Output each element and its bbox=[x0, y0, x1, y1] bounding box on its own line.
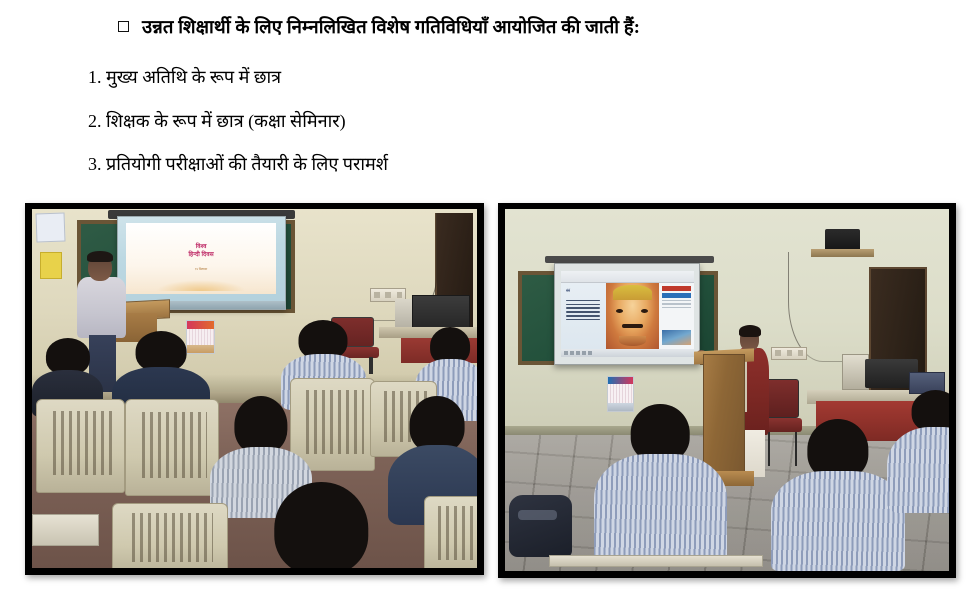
seated-student bbox=[594, 404, 727, 563]
socket-slot bbox=[374, 292, 379, 298]
statusbar-item bbox=[588, 351, 592, 355]
sidebar-text-line bbox=[662, 303, 691, 304]
sidebar-text-line bbox=[662, 300, 691, 301]
browser-window: “ bbox=[561, 271, 694, 356]
heading-row: उन्नत शिक्षार्थी के लिए निम्नलिखित विशेष… bbox=[118, 17, 640, 40]
quote-line bbox=[566, 311, 601, 313]
projector-screen-mount bbox=[545, 256, 714, 263]
wall-notice-paper bbox=[36, 212, 66, 242]
chair-leg bbox=[369, 357, 373, 374]
presenter-hair bbox=[739, 325, 761, 337]
crt-monitor bbox=[412, 295, 470, 329]
socket-slot bbox=[385, 292, 390, 298]
presenter-body bbox=[77, 277, 126, 338]
wall-speaker bbox=[825, 229, 861, 251]
plastic-chair bbox=[125, 399, 218, 496]
portrait-moustache bbox=[622, 324, 643, 329]
quote-line bbox=[566, 315, 601, 317]
statusbar-item bbox=[564, 351, 568, 355]
list-item: 2. शिक्षक के रूप में छात्र (कक्षा सेमिना… bbox=[88, 110, 346, 133]
slide-title-line2: हिन्दी दिवस bbox=[189, 252, 214, 258]
statusbar-item bbox=[582, 351, 586, 355]
portrait-eye bbox=[616, 309, 623, 313]
quote-text-lines bbox=[566, 300, 601, 321]
statusbar-item bbox=[576, 351, 580, 355]
slide-subtitle: १४ सितम्बर bbox=[126, 267, 276, 271]
student-head bbox=[235, 396, 288, 455]
quote-line bbox=[566, 304, 601, 306]
plastic-chair bbox=[112, 503, 228, 568]
plastic-chair bbox=[424, 496, 477, 568]
calendar-header bbox=[187, 321, 214, 329]
seated-student bbox=[771, 419, 904, 571]
student-torso bbox=[887, 427, 949, 513]
author-portrait-illustration bbox=[606, 283, 659, 350]
portrait-cap bbox=[613, 285, 651, 300]
socket-slot bbox=[775, 350, 780, 356]
quote-line bbox=[566, 307, 601, 309]
sidebar-banner bbox=[662, 286, 691, 291]
calendar-header bbox=[608, 377, 633, 385]
portrait-eye bbox=[641, 309, 648, 313]
projector-screen: “ bbox=[554, 263, 701, 364]
chair-leg bbox=[768, 432, 770, 466]
quote-line bbox=[566, 300, 601, 302]
presenter-hair bbox=[87, 251, 113, 262]
photo-right-content: “ bbox=[505, 209, 949, 571]
photo-left-content: विश्व हिन्दी दिवस १४ सितम्बर bbox=[32, 209, 477, 568]
socket-slot bbox=[787, 350, 792, 356]
plastic-chair bbox=[36, 399, 125, 492]
power-socket bbox=[771, 347, 807, 360]
photo-right-seminar: “ bbox=[498, 203, 956, 578]
statusbar-item bbox=[570, 351, 574, 355]
page-heading: उन्नत शिक्षार्थी के लिए निम्नलिखित विशेष… bbox=[142, 17, 640, 40]
student-head bbox=[275, 482, 368, 568]
socket-slot bbox=[397, 292, 402, 298]
yellow-wall-poster bbox=[40, 252, 62, 279]
quote-panel: “ bbox=[561, 283, 606, 350]
front-bench bbox=[549, 555, 762, 568]
portrait-chin bbox=[619, 336, 647, 347]
sidebar-banner bbox=[662, 293, 691, 298]
calendar-grid bbox=[608, 384, 633, 403]
square-bullet-icon bbox=[118, 21, 129, 32]
socket-slot bbox=[798, 350, 803, 356]
slide-title: विश्व हिन्दी दिवस bbox=[126, 244, 276, 259]
list-item: 1. मुख्य अतिथि के रूप में छात्र bbox=[88, 66, 281, 89]
browser-toolbar bbox=[561, 271, 694, 282]
projector-screen: विश्व हिन्दी दिवस १४ सितम्बर bbox=[117, 216, 286, 309]
quote-line bbox=[566, 319, 601, 321]
front-desk bbox=[32, 514, 99, 546]
browser-sidebar bbox=[659, 283, 694, 350]
chair-back bbox=[766, 379, 800, 418]
quotation-mark-icon: “ bbox=[566, 288, 601, 297]
browser-content: “ bbox=[561, 283, 694, 350]
backpack bbox=[509, 495, 571, 557]
student-head bbox=[911, 390, 949, 432]
slide-title-line1: विश्व bbox=[196, 244, 207, 250]
sidebar-text-line bbox=[662, 307, 691, 308]
photo-left-seminar: विश्व हिन्दी दिवस १४ सितम्बर bbox=[25, 203, 484, 575]
sidebar-thumbnail bbox=[662, 330, 691, 345]
seated-student bbox=[887, 390, 949, 513]
student-torso bbox=[594, 454, 727, 564]
seated-student bbox=[255, 482, 389, 568]
browser-statusbar bbox=[561, 349, 694, 357]
slide-decoration bbox=[156, 280, 246, 291]
list-item: 3. प्रतियोगी परीक्षाओं की तैयारी के लिए … bbox=[88, 153, 388, 176]
student-torso bbox=[771, 471, 904, 571]
presentation-slide: विश्व हिन्दी दिवस १४ सितम्बर bbox=[126, 223, 276, 294]
student-head bbox=[136, 331, 187, 372]
